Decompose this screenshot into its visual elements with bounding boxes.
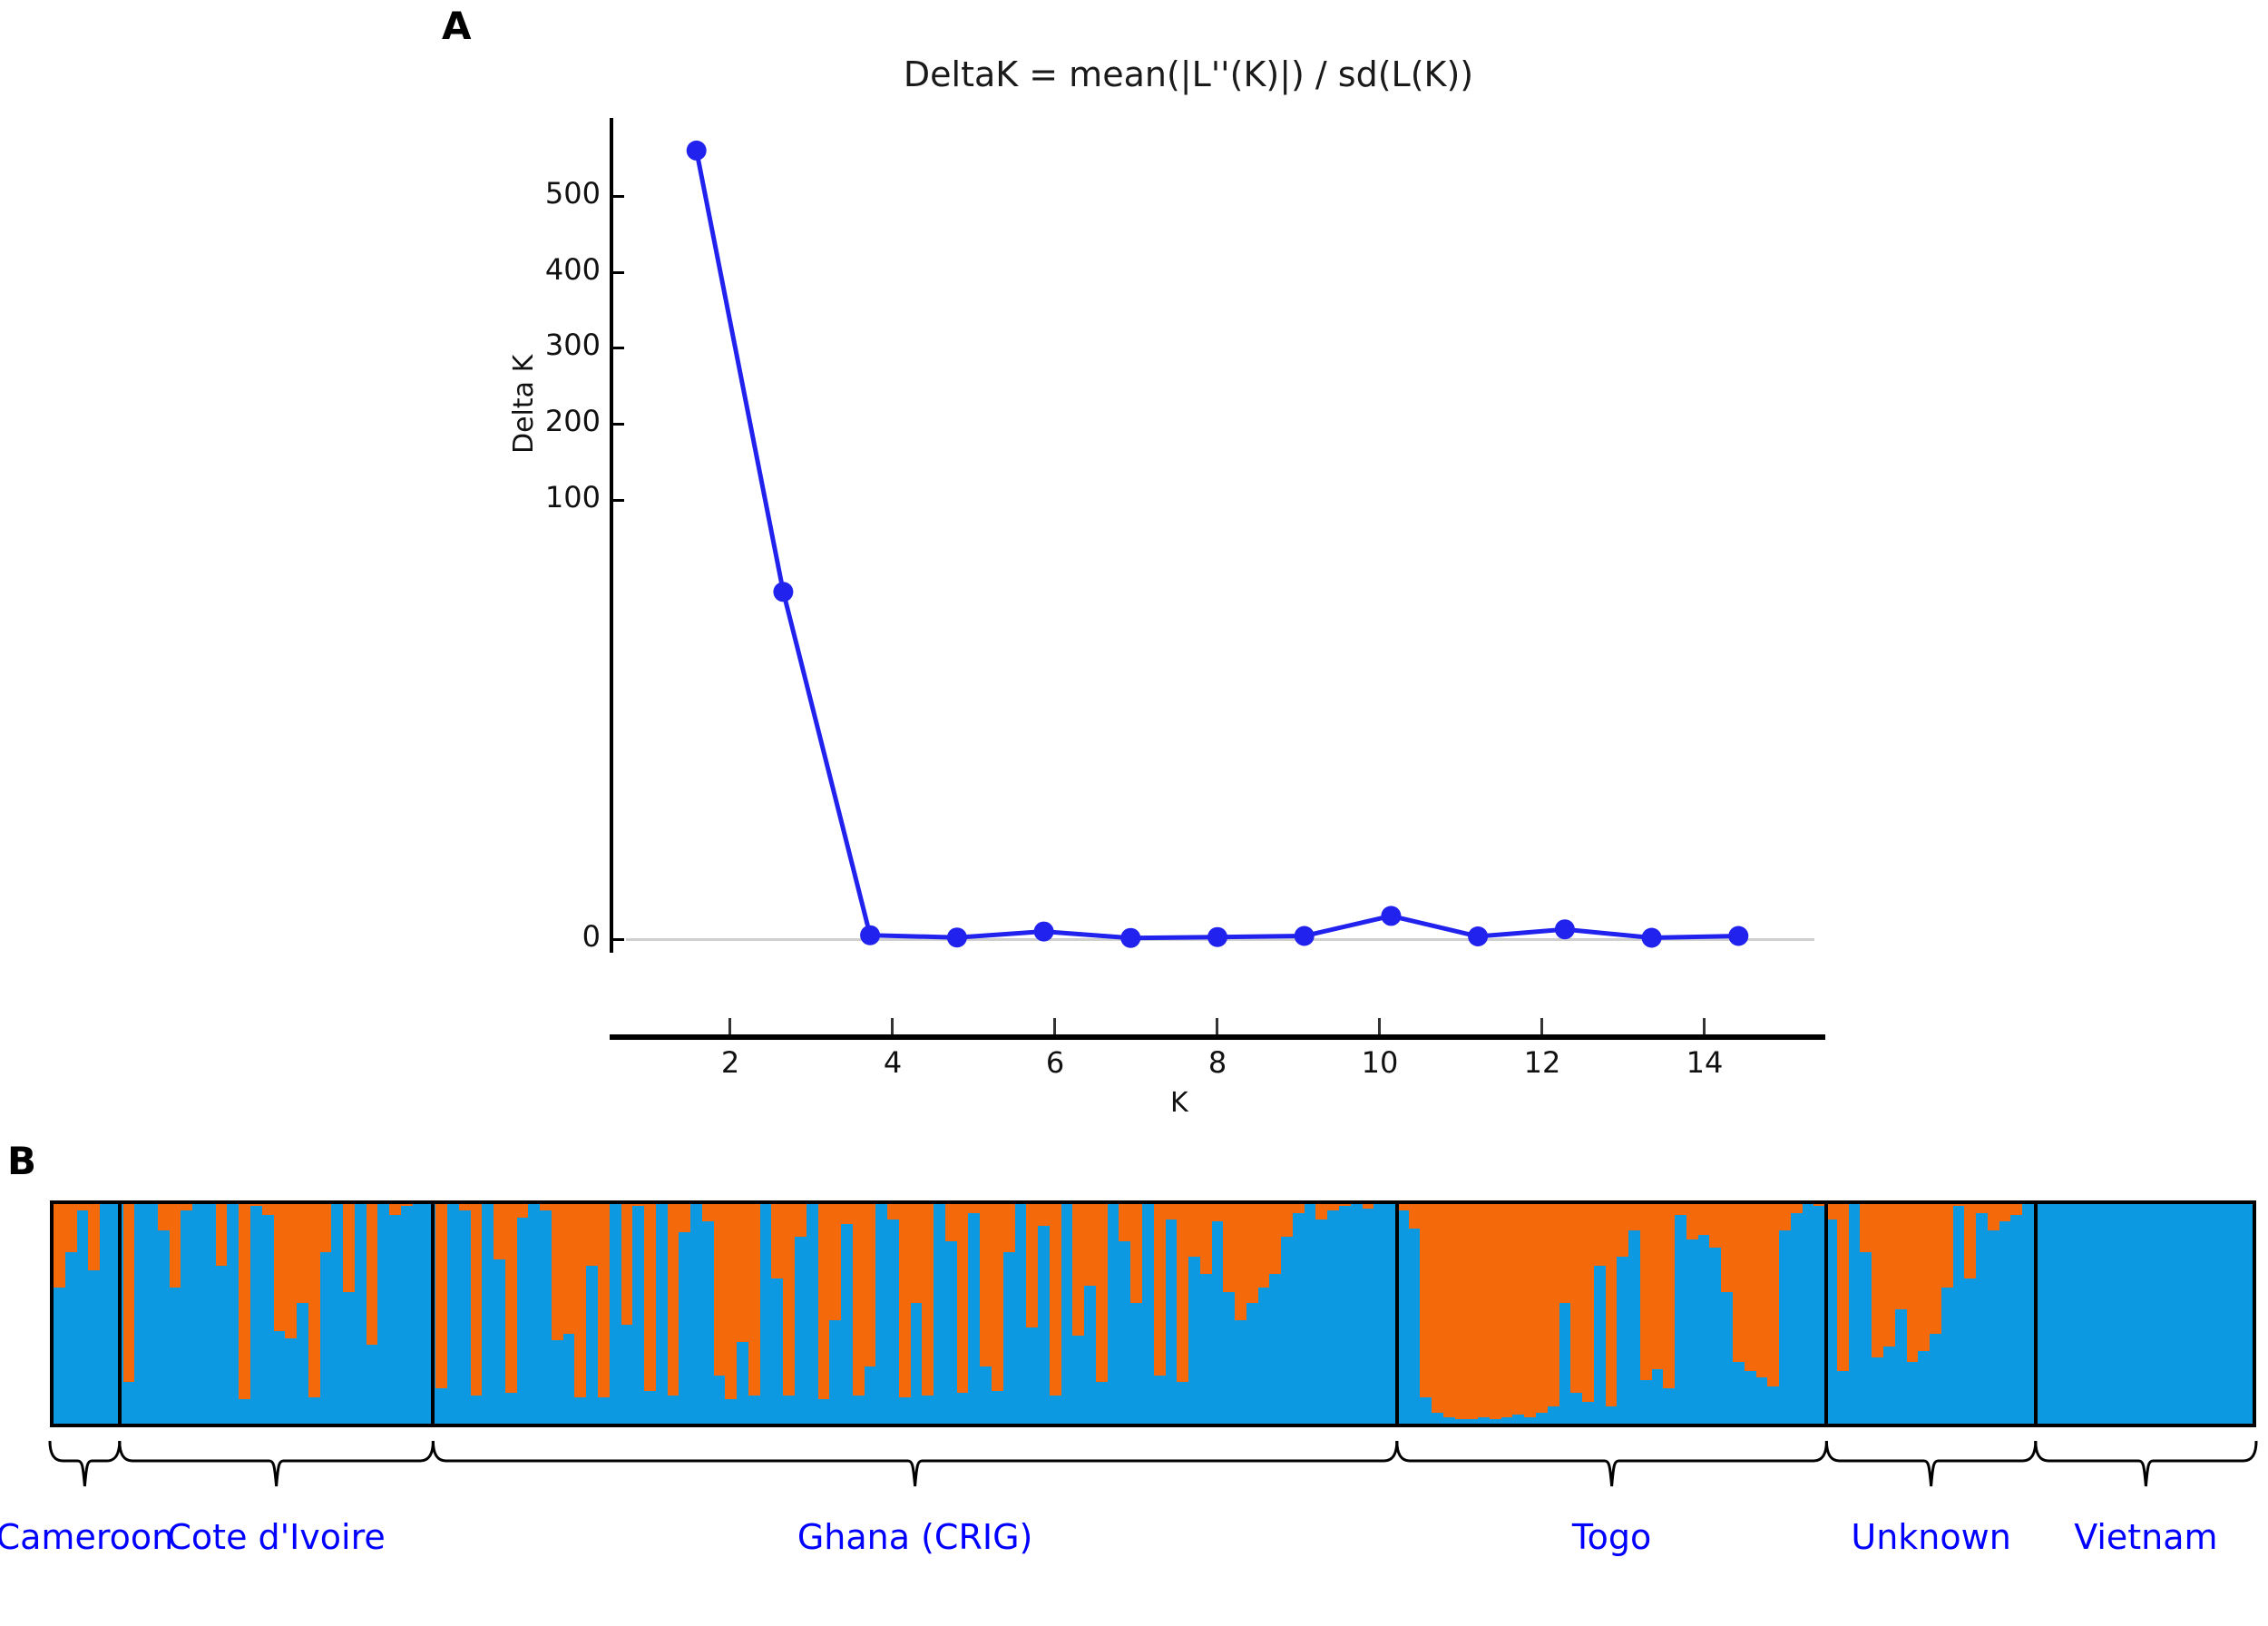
structure-bar: [2057, 1204, 2068, 1424]
bar-segment-cluster2: [1466, 1419, 1478, 1424]
structure-bar: [1003, 1204, 1015, 1424]
bar-segment-cluster2: [343, 1292, 355, 1424]
bar-segment-cluster1: [865, 1204, 876, 1366]
structure-bar: [123, 1204, 135, 1424]
bar-segment-cluster1: [829, 1204, 841, 1320]
bar-segment-cluster2: [377, 1204, 389, 1424]
structure-bar: [250, 1204, 262, 1424]
structure-bar: [2219, 1204, 2231, 1424]
bar-segment-cluster1: [668, 1204, 679, 1396]
delta-k-point-k5: [947, 927, 967, 947]
structure-bar: [1026, 1204, 1038, 1424]
bar-segment-cluster1: [737, 1204, 748, 1342]
structure-bar: [331, 1204, 343, 1424]
bar-segment-cluster2: [957, 1393, 969, 1424]
structure-bar: [1860, 1204, 1872, 1424]
structure-bar: [714, 1204, 726, 1424]
structure-bar: [1108, 1204, 1119, 1424]
structure-bar: [875, 1204, 887, 1424]
bar-segment-cluster2: [1745, 1371, 1756, 1424]
brace-togo: [1397, 1441, 1827, 1486]
bar-segment-cluster2: [528, 1204, 540, 1424]
structure-bar: [563, 1204, 575, 1424]
structure-bar: [760, 1204, 772, 1424]
bar-segment-cluster1: [1466, 1204, 1478, 1419]
structure-bar: [783, 1204, 795, 1424]
bar-segment-cluster1: [1721, 1204, 1733, 1292]
structure-bar: [899, 1204, 911, 1424]
bar-segment-cluster2: [1791, 1213, 1803, 1424]
bar-segment-cluster2: [818, 1399, 830, 1424]
bar-segment-cluster1: [1570, 1204, 1582, 1393]
bar-segment-cluster2: [1999, 1221, 2011, 1424]
bar-segment-cluster2: [1315, 1219, 1327, 1424]
structure-bar: [1895, 1204, 1907, 1424]
delta-k-point-k13: [1642, 928, 1662, 948]
bar-segment-cluster2: [1269, 1274, 1281, 1424]
structure-bar: [1779, 1204, 1791, 1424]
bar-segment-cluster1: [1606, 1204, 1618, 1406]
delta-k-point-k11: [1468, 926, 1488, 946]
structure-bar: [679, 1204, 690, 1424]
bar-segment-cluster1: [1582, 1204, 1594, 1402]
bar-segment-cluster1: [1072, 1204, 1084, 1336]
structure-bar: [181, 1204, 192, 1424]
bar-segment-cluster2: [899, 1397, 911, 1424]
structure-bar: [853, 1204, 865, 1424]
structure-bar: [2150, 1204, 2162, 1424]
bar-segment-cluster1: [494, 1204, 505, 1259]
panel-b-letter: B: [7, 1139, 36, 1183]
bar-segment-cluster1: [1640, 1204, 1652, 1380]
structure-bar: [2207, 1204, 2219, 1424]
bar-segment-cluster2: [1709, 1248, 1721, 1424]
structure-bar: [482, 1204, 494, 1424]
bar-segment-cluster2: [1941, 1288, 1953, 1424]
structure-bar: [771, 1204, 783, 1424]
bar-segment-cluster1: [517, 1204, 529, 1218]
bar-segment-cluster2: [644, 1391, 656, 1424]
bar-segment-cluster2: [2104, 1204, 2116, 1424]
bar-segment-cluster2: [2046, 1204, 2058, 1424]
bar-segment-cluster2: [771, 1278, 783, 1424]
bar-segment-cluster2: [2196, 1204, 2208, 1424]
structure-bar: [725, 1204, 737, 1424]
bar-segment-cluster2: [2150, 1204, 2162, 1424]
structure-bar: [1455, 1204, 1467, 1424]
bar-segment-cluster2: [1895, 1309, 1907, 1424]
bar-segment-cluster2: [389, 1215, 401, 1424]
bar-segment-cluster2: [853, 1396, 865, 1424]
structure-bar: [274, 1204, 286, 1424]
structure-bar: [841, 1204, 853, 1424]
bar-segment-cluster1: [1212, 1204, 1224, 1221]
structure-bar: [1813, 1204, 1825, 1424]
bar-segment-cluster1: [1791, 1204, 1803, 1213]
structure-bar: [1177, 1204, 1188, 1424]
structure-bar: [934, 1204, 945, 1424]
bar-segment-cluster2: [887, 1219, 899, 1424]
bar-segment-cluster1: [1154, 1204, 1166, 1376]
bar-segment-cluster1: [702, 1204, 714, 1221]
bar-segment-cluster2: [250, 1206, 262, 1424]
bar-segment-cluster2: [690, 1204, 702, 1424]
structure-bar: [1570, 1204, 1582, 1424]
bar-segment-cluster1: [239, 1204, 250, 1399]
bar-segment-cluster2: [2161, 1204, 2173, 1424]
structure-bar: [1084, 1204, 1096, 1424]
bar-segment-cluster2: [1524, 1417, 1536, 1424]
structure-bar: [1606, 1204, 1618, 1424]
structure-bar: [1791, 1204, 1803, 1424]
group-divider-0: [118, 1200, 122, 1427]
bar-segment-cluster2: [1258, 1288, 1270, 1424]
bar-segment-cluster1: [945, 1204, 957, 1241]
bar-segment-cluster2: [1432, 1413, 1443, 1424]
structure-bar: [980, 1204, 992, 1424]
bar-segment-cluster2: [945, 1241, 957, 1424]
structure-bar: [957, 1204, 969, 1424]
bar-segment-cluster2: [1628, 1230, 1640, 1424]
structure-bar: [2092, 1204, 2104, 1424]
bar-segment-cluster2: [401, 1206, 413, 1424]
bar-segment-cluster1: [621, 1204, 633, 1325]
bar-segment-cluster1: [1119, 1204, 1130, 1241]
bar-segment-cluster2: [2173, 1204, 2185, 1424]
structure-bar: [65, 1204, 77, 1424]
structure-bar: [227, 1204, 239, 1424]
bar-segment-cluster1: [992, 1204, 1003, 1391]
bar-segment-cluster2: [2080, 1204, 2092, 1424]
structure-bar: [1709, 1204, 1721, 1424]
bar-segment-cluster2: [1536, 1413, 1548, 1424]
bar-segment-cluster1: [1536, 1204, 1548, 1413]
bar-segment-cluster1: [1745, 1204, 1756, 1371]
structure-bar: [1698, 1204, 1710, 1424]
bar-segment-cluster1: [540, 1204, 552, 1210]
structure-bar: [1976, 1204, 1988, 1424]
bar-segment-cluster1: [922, 1204, 934, 1396]
structure-bar: [100, 1204, 112, 1424]
bar-segment-cluster1: [783, 1204, 795, 1396]
bar-segment-cluster1: [1837, 1204, 1849, 1371]
bar-segment-cluster1: [88, 1204, 100, 1270]
bar-segment-cluster2: [239, 1399, 250, 1424]
structure-bar: [528, 1204, 540, 1424]
bar-segment-cluster2: [100, 1204, 112, 1424]
bar-segment-cluster1: [1733, 1204, 1745, 1362]
delta-k-line-series: [0, 0, 2268, 1134]
bar-segment-cluster2: [413, 1204, 425, 1424]
bar-segment-cluster2: [1860, 1252, 1872, 1424]
structure-bar: [2126, 1204, 2138, 1424]
bar-segment-cluster2: [1953, 1206, 1965, 1424]
structure-bar: [807, 1204, 818, 1424]
structure-bar: [447, 1204, 459, 1424]
brace-vietnam: [2036, 1441, 2256, 1486]
bar-segment-cluster2: [980, 1366, 992, 1424]
bar-segment-cluster2: [968, 1213, 980, 1424]
bar-segment-cluster1: [1767, 1204, 1779, 1386]
structure-bar: [610, 1204, 621, 1424]
structure-bar: [1490, 1204, 1501, 1424]
structure-bar: [192, 1204, 204, 1424]
bar-segment-cluster1: [1223, 1204, 1235, 1292]
bar-segment-cluster1: [1478, 1204, 1490, 1417]
bar-segment-cluster2: [632, 1206, 644, 1424]
bar-segment-cluster1: [725, 1204, 737, 1399]
bar-segment-cluster1: [853, 1204, 865, 1396]
bar-segment-cluster2: [1675, 1215, 1686, 1424]
bar-segment-cluster1: [1756, 1204, 1768, 1377]
bar-segment-cluster1: [1269, 1204, 1281, 1274]
structure-bar: [1038, 1204, 1050, 1424]
bar-segment-cluster1: [435, 1204, 447, 1388]
structure-bar: [1072, 1204, 1084, 1424]
structure-bar: [702, 1204, 714, 1424]
bar-segment-cluster1: [841, 1204, 853, 1224]
bar-segment-cluster2: [297, 1303, 308, 1424]
bar-segment-cluster1: [1976, 1204, 1988, 1213]
bar-segment-cluster2: [158, 1230, 170, 1424]
structure-bar: [1767, 1204, 1779, 1424]
delta-k-polyline: [697, 151, 1739, 938]
bar-segment-cluster2: [552, 1340, 563, 1424]
bar-segment-cluster2: [1119, 1241, 1130, 1424]
bar-segment-cluster2: [1084, 1286, 1096, 1424]
structure-bar: [795, 1204, 807, 1424]
bar-segment-cluster2: [1154, 1376, 1166, 1424]
structure-bar: [1964, 1204, 1976, 1424]
bar-segment-cluster1: [1652, 1204, 1664, 1369]
structure-bar: [552, 1204, 563, 1424]
structure-bar: [598, 1204, 610, 1424]
group-divider-4: [2034, 1200, 2038, 1427]
structure-bar: [2068, 1204, 2080, 1424]
bar-segment-cluster2: [1327, 1210, 1339, 1424]
structure-bar: [1988, 1204, 1999, 1424]
bar-segment-cluster2: [2022, 1204, 2034, 1424]
structure-bar: [1524, 1204, 1536, 1424]
structure-bar: [632, 1204, 644, 1424]
structure-bars-container: [54, 1204, 2253, 1424]
structure-bar: [88, 1204, 100, 1424]
bar-segment-cluster1: [1698, 1204, 1710, 1235]
bar-segment-cluster2: [1363, 1209, 1374, 1424]
bar-segment-cluster1: [1420, 1204, 1432, 1397]
structure-bar: [355, 1204, 367, 1424]
structure-bar: [1953, 1204, 1965, 1424]
bar-segment-cluster1: [714, 1204, 726, 1376]
bar-segment-cluster2: [1478, 1417, 1490, 1424]
bar-segment-cluster1: [1130, 1204, 1142, 1303]
bar-segment-cluster1: [1026, 1204, 1038, 1327]
bar-segment-cluster2: [1096, 1382, 1108, 1424]
structure-bar: [968, 1204, 980, 1424]
bar-segment-cluster1: [1315, 1204, 1327, 1219]
structure-bar: [1686, 1204, 1698, 1424]
structure-bar: [1432, 1204, 1443, 1424]
bar-segment-cluster2: [737, 1342, 748, 1424]
structure-bar: [992, 1204, 1003, 1424]
bar-segment-cluster2: [911, 1303, 923, 1424]
structure-bar: [2231, 1204, 2243, 1424]
delta-k-point-k6: [1034, 922, 1054, 942]
bar-segment-cluster2: [170, 1288, 181, 1424]
bar-segment-cluster2: [2092, 1204, 2104, 1424]
structure-bar: [54, 1204, 65, 1424]
bar-segment-cluster2: [1281, 1237, 1293, 1424]
bar-segment-cluster2: [459, 1210, 471, 1424]
bar-segment-cluster2: [216, 1266, 228, 1424]
structure-bar: [945, 1204, 957, 1424]
structure-bar: [413, 1204, 425, 1424]
bar-segment-cluster2: [204, 1204, 216, 1424]
bar-segment-cluster1: [54, 1204, 65, 1288]
structure-bar: [1628, 1204, 1640, 1424]
structure-bar: [1837, 1204, 1849, 1424]
bar-segment-cluster2: [2115, 1204, 2126, 1424]
bar-segment-cluster2: [1351, 1204, 1363, 1424]
brace-ghana-crig-: [433, 1441, 1396, 1486]
structure-bar: [1258, 1204, 1270, 1424]
structure-bar: [239, 1204, 250, 1424]
group-label-vietnam: Vietnam: [1937, 1517, 2268, 1557]
bar-segment-cluster1: [1003, 1204, 1015, 1252]
structure-bar: [1351, 1204, 1363, 1424]
group-divider-3: [1824, 1200, 1828, 1427]
panel-a-delta-k-plot: A DeltaK = mean(|L''(K)|) / sd(L(K)) 500…: [0, 0, 2268, 1134]
bar-segment-cluster1: [968, 1204, 980, 1213]
bar-segment-cluster2: [123, 1382, 135, 1424]
bar-segment-cluster2: [865, 1366, 876, 1424]
bar-segment-cluster2: [563, 1334, 575, 1424]
bar-segment-cluster2: [274, 1331, 286, 1424]
bar-segment-cluster1: [1235, 1204, 1246, 1320]
bar-segment-cluster1: [980, 1204, 992, 1366]
bar-segment-cluster1: [1443, 1204, 1455, 1417]
bar-segment-cluster2: [1108, 1204, 1119, 1424]
bar-segment-cluster2: [1756, 1377, 1768, 1424]
bar-segment-cluster1: [1409, 1204, 1421, 1229]
bar-segment-cluster2: [367, 1345, 378, 1424]
bar-segment-cluster2: [1223, 1292, 1235, 1424]
bar-segment-cluster2: [435, 1388, 447, 1424]
bar-segment-cluster1: [1860, 1204, 1872, 1252]
bar-segment-cluster2: [2219, 1204, 2231, 1424]
structure-bar: [1223, 1204, 1235, 1424]
bar-segment-cluster1: [1918, 1204, 1930, 1351]
bar-segment-cluster2: [2057, 1204, 2068, 1424]
bar-segment-cluster1: [1988, 1204, 1999, 1230]
bar-segment-cluster2: [517, 1218, 529, 1424]
bar-segment-cluster2: [1443, 1417, 1455, 1424]
bar-segment-cluster2: [1026, 1327, 1038, 1424]
bar-segment-cluster1: [1200, 1204, 1212, 1274]
bar-segment-cluster2: [841, 1224, 853, 1424]
bar-segment-cluster2: [760, 1204, 772, 1424]
structure-bar: [2173, 1204, 2185, 1424]
structure-bar: [1548, 1204, 1559, 1424]
structure-bar: [308, 1204, 320, 1424]
bar-segment-cluster2: [1512, 1415, 1524, 1424]
structure-bar: [1327, 1204, 1339, 1424]
structure-bar: [1061, 1204, 1073, 1424]
bar-segment-cluster2: [1142, 1204, 1154, 1424]
bar-segment-cluster2: [1663, 1388, 1675, 1424]
structure-bar: [737, 1204, 748, 1424]
structure-bar: [1246, 1204, 1258, 1424]
bar-segment-cluster2: [2207, 1204, 2219, 1424]
bar-segment-cluster2: [586, 1266, 598, 1424]
structure-bar: [1941, 1204, 1953, 1424]
bar-segment-cluster2: [1698, 1235, 1710, 1424]
bar-segment-cluster1: [911, 1204, 923, 1303]
structure-bar: [1745, 1204, 1756, 1424]
structure-bar: [1803, 1204, 1814, 1424]
bar-segment-cluster2: [77, 1210, 89, 1424]
structure-bar: [1872, 1204, 1883, 1424]
bar-segment-cluster2: [1420, 1397, 1432, 1424]
structure-bar: [1594, 1204, 1606, 1424]
structure-bar: [911, 1204, 923, 1424]
structure-bar: [586, 1204, 598, 1424]
bar-segment-cluster1: [795, 1204, 807, 1237]
bar-segment-cluster1: [389, 1204, 401, 1215]
bar-segment-cluster2: [1501, 1417, 1513, 1424]
bar-segment-cluster2: [355, 1204, 367, 1424]
structure-bar: [1930, 1204, 1941, 1424]
bar-segment-cluster2: [471, 1396, 483, 1424]
structure-bar: [2022, 1204, 2034, 1424]
bar-segment-cluster1: [1964, 1204, 1976, 1278]
structure-bar: [401, 1204, 413, 1424]
bar-segment-cluster2: [1976, 1213, 1988, 1424]
bar-segment-cluster2: [1188, 1257, 1200, 1424]
structure-bar: [1640, 1204, 1652, 1424]
structure-bar: [262, 1204, 274, 1424]
bar-segment-cluster2: [1374, 1204, 1385, 1424]
structure-bar: [1166, 1204, 1178, 1424]
structure-bar: [1363, 1204, 1374, 1424]
bar-segment-cluster1: [1490, 1204, 1501, 1419]
bar-segment-cluster2: [1767, 1386, 1779, 1424]
bar-segment-cluster2: [1166, 1219, 1178, 1424]
structure-bar: [829, 1204, 841, 1424]
bar-segment-cluster2: [1212, 1221, 1224, 1424]
bar-segment-cluster2: [2138, 1204, 2150, 1424]
delta-k-point-k14: [1728, 926, 1748, 946]
bar-segment-cluster2: [610, 1204, 621, 1424]
bar-segment-cluster1: [1501, 1204, 1513, 1417]
structure-bar: [505, 1204, 517, 1424]
structure-bar: [1536, 1204, 1548, 1424]
structure-bar: [285, 1204, 297, 1424]
structure-bar: [2080, 1204, 2092, 1424]
bar-segment-cluster2: [1617, 1257, 1628, 1424]
bar-segment-cluster1: [1941, 1204, 1953, 1288]
bar-segment-cluster1: [1050, 1204, 1061, 1396]
bar-segment-cluster2: [1803, 1204, 1814, 1424]
structure-bar: [1188, 1204, 1200, 1424]
brace-unknown: [1826, 1441, 2035, 1486]
bar-segment-cluster2: [192, 1204, 204, 1424]
bar-segment-cluster2: [1849, 1204, 1861, 1424]
bar-segment-cluster2: [1130, 1303, 1142, 1424]
bar-segment-cluster1: [1872, 1204, 1883, 1357]
bar-segment-cluster1: [2010, 1204, 2022, 1215]
bar-segment-cluster1: [1548, 1204, 1559, 1406]
